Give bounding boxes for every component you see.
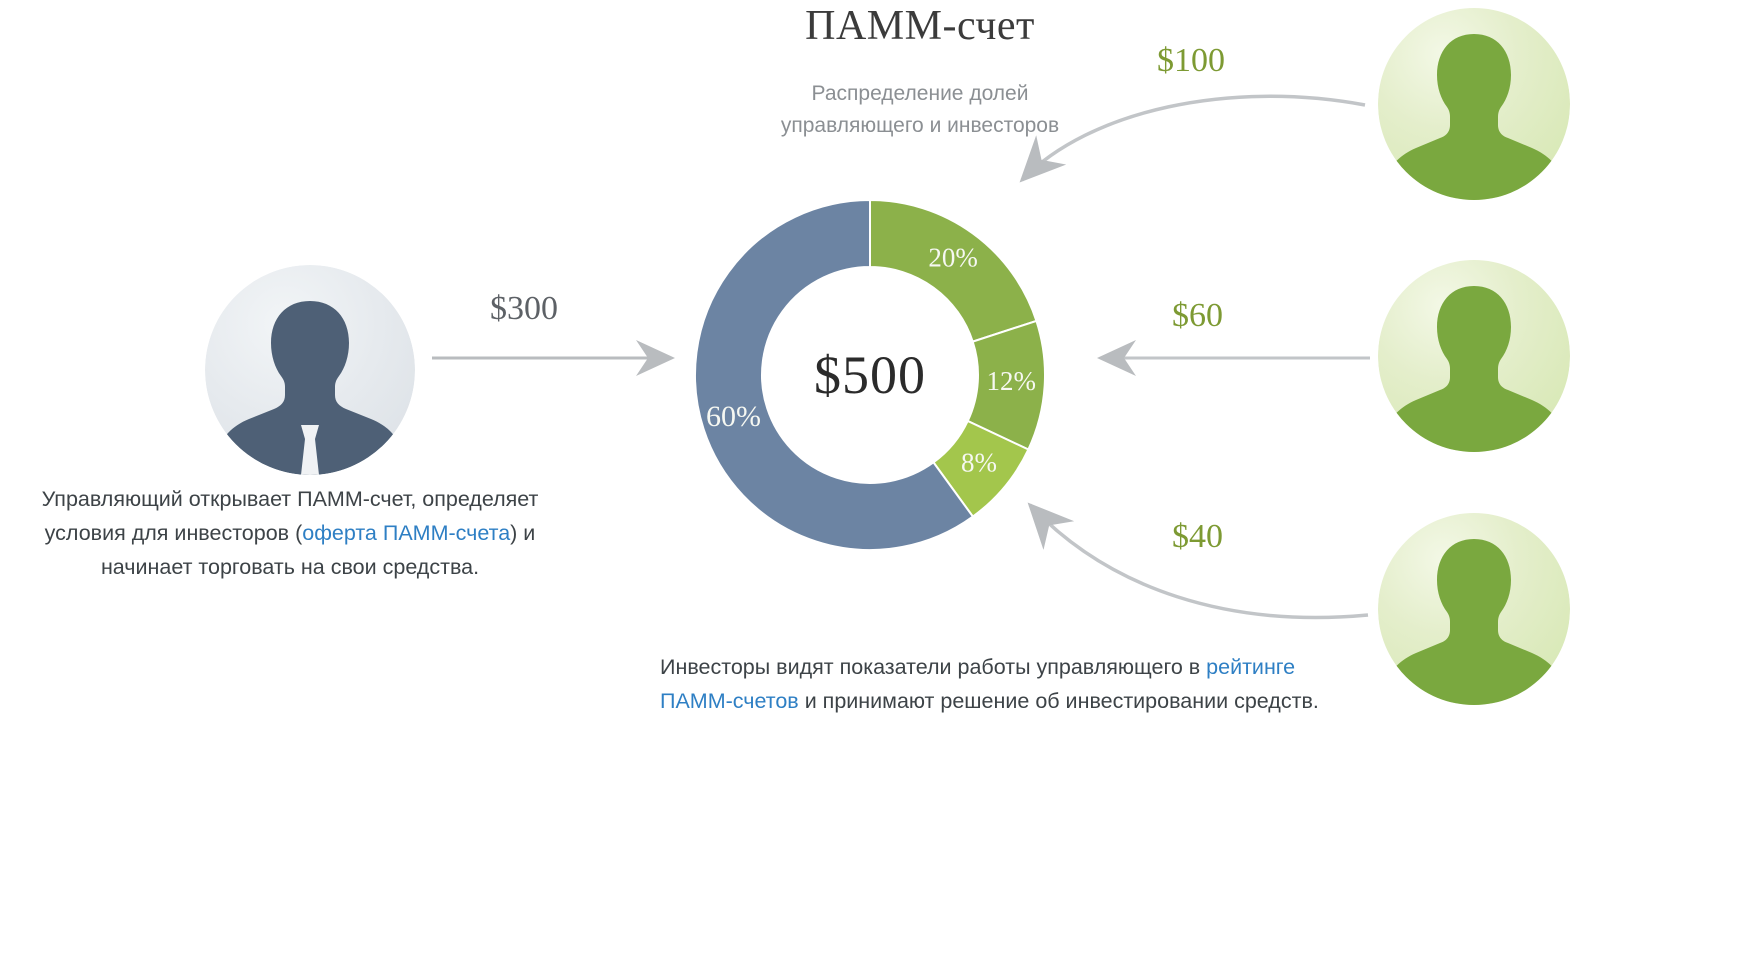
investor-avatar-3 — [1378, 505, 1570, 713]
subtitle-line-2: управляющего и инвесторов — [690, 110, 1150, 142]
manager-caption: Управляющий открывает ПАММ-счет, определ… — [40, 482, 540, 584]
donut-slice-label: 8% — [961, 447, 997, 477]
manager-avatar — [205, 265, 415, 475]
infographic-canvas: ПАММ-счет Распределение долей управляюще… — [0, 0, 1760, 960]
investor-avatar-2 — [1378, 252, 1570, 460]
investor-avatar-1 — [1378, 0, 1570, 208]
donut-chart: 20%12%8%60% $500 — [660, 165, 1080, 585]
investors-caption-part1: Инвесторы видят показатели работы управл… — [660, 655, 1206, 679]
flow-amount-investor-3: $40 — [1172, 518, 1223, 556]
donut-slice-label: 60% — [706, 400, 761, 433]
investors-caption-part2: и принимают решение об инвестировании ср… — [799, 689, 1319, 713]
page-subtitle: Распределение долей управляющего и инвес… — [690, 78, 1150, 142]
flow-amount-investor-2: $60 — [1172, 297, 1223, 335]
flow-amount-investor-1: $100 — [1157, 42, 1225, 80]
flow-amount-manager: $300 — [490, 290, 558, 328]
page-title: ПАММ-счет — [700, 2, 1140, 50]
donut-slice-label: 12% — [986, 366, 1036, 396]
subtitle-line-1: Распределение долей — [690, 78, 1150, 110]
investors-caption: Инвесторы видят показатели работы управл… — [660, 650, 1320, 718]
donut-slice-label: 20% — [928, 243, 978, 273]
offer-link[interactable]: оферта ПАММ-счета — [302, 521, 510, 545]
